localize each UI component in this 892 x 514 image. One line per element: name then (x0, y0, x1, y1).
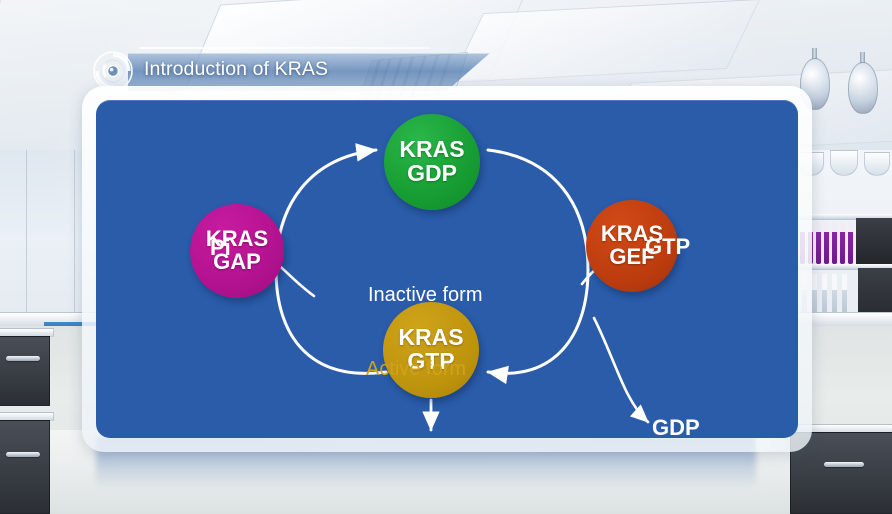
cabinet-handle (6, 452, 40, 457)
lab-cabinet (0, 336, 50, 406)
node-label-line2: GDP (407, 162, 457, 186)
test-tube (848, 222, 853, 264)
cabinet-handle (824, 462, 864, 467)
lab-cabinet (0, 420, 50, 514)
label-pi: Pi (210, 235, 231, 261)
glassware (830, 150, 858, 176)
test-tube (816, 222, 821, 264)
title-hairline (140, 47, 430, 49)
label-gdp: GDP (652, 415, 700, 438)
arc-gtp-to-gdp (276, 150, 386, 373)
label-gtp: GTP (645, 234, 690, 260)
test-tube (840, 222, 845, 264)
node-kras-gap[interactable]: KRAS GAP (190, 204, 284, 298)
slide-title-bar: Introduction of KRAS (92, 47, 492, 91)
glassware (864, 152, 890, 176)
node-kras-gdp[interactable]: KRAS GDP (384, 114, 480, 210)
arc-gdp-to-gtp (488, 150, 588, 373)
test-tube (832, 222, 837, 264)
cabinet-handle (6, 356, 40, 361)
label-inactive-form: Inactive form (368, 284, 482, 307)
node-kras-gtp[interactable]: KRAS GTP (383, 302, 479, 398)
wall-seam (74, 150, 75, 325)
test-tube (824, 222, 829, 264)
label-active-form: Active form (366, 358, 466, 381)
pendant-lamp (848, 62, 878, 114)
node-label-line1: KRAS (398, 326, 463, 350)
slide-scene: Introduction of KRAS K (0, 0, 892, 514)
wall-seam (26, 150, 27, 325)
node-label-line1: KRAS (399, 138, 464, 162)
page-title: Introduction of KRAS (144, 58, 328, 81)
shelf-backing (856, 218, 892, 264)
arrow-gdp-output (594, 318, 648, 422)
kras-cycle-diagram: KRAS GDP KRAS GTP KRAS GAP KRAS GEF Inac… (96, 100, 798, 438)
